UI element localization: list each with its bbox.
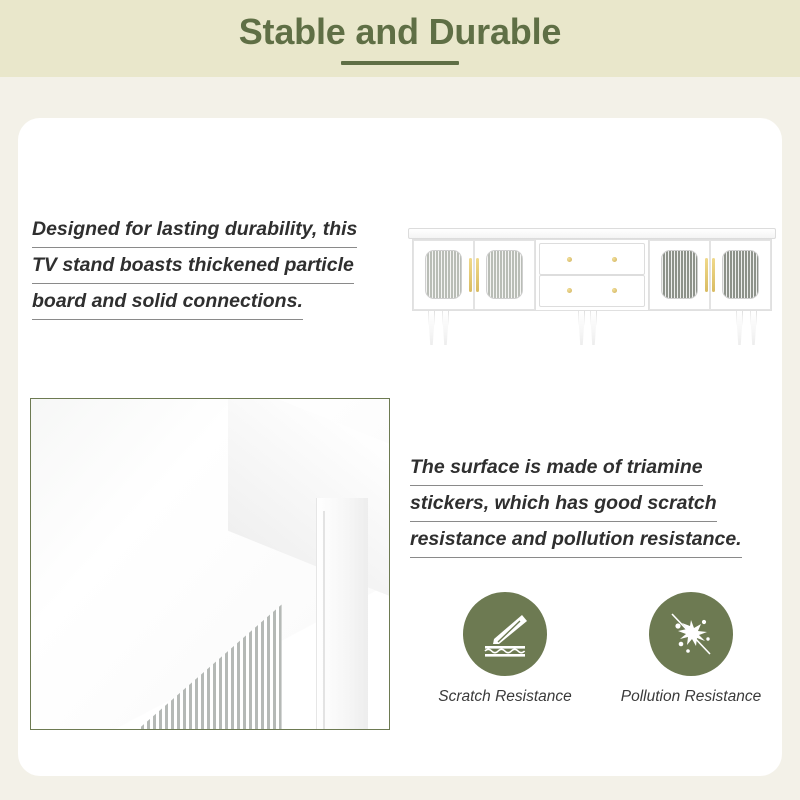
right-cabinet-bay <box>648 239 772 311</box>
tv-stand-illustration <box>406 228 778 353</box>
feature-badges: Scratch Resistance Pollution Resistance <box>412 592 784 706</box>
gold-knob <box>612 257 617 262</box>
durability-paragraph: Designed for lasting durability, this TV… <box>32 212 412 320</box>
closeup-photo-frame <box>30 398 390 730</box>
gold-bar-handle <box>705 258 708 292</box>
center-drawer-bay <box>536 239 648 311</box>
pollution-badge-circle <box>649 592 733 676</box>
paragraph-line: stickers, which has good scratch <box>410 486 717 522</box>
paragraph-line: The surface is made of triamine <box>410 450 703 486</box>
tapered-leg <box>428 311 435 345</box>
title-underline-rule <box>341 61 459 65</box>
fluted-glass-panel <box>425 250 463 299</box>
left-cabinet-bay <box>412 239 536 311</box>
fluted-glass-panel <box>661 250 699 299</box>
tapered-leg <box>750 311 757 345</box>
tapered-leg <box>442 311 449 345</box>
tv-stand-body <box>412 239 772 311</box>
paragraph-line: board and solid connections. <box>32 284 303 320</box>
cabinet-door <box>413 240 474 310</box>
ink-splat-icon <box>663 606 719 662</box>
drawer <box>539 275 645 307</box>
gold-knob <box>567 288 572 293</box>
feature-label: Scratch Resistance <box>438 688 572 706</box>
paragraph-line: resistance and pollution resistance. <box>410 522 742 558</box>
scratch-blade-icon <box>477 606 533 662</box>
page-title: Stable and Durable <box>239 12 561 52</box>
fluted-glass-panel <box>486 250 524 299</box>
gold-knob <box>567 257 572 262</box>
panel-seam <box>323 511 325 729</box>
gold-bar-handle <box>476 258 479 292</box>
paragraph-line: Designed for lasting durability, this <box>32 212 357 248</box>
header-band: Stable and Durable <box>0 0 800 77</box>
tapered-leg <box>736 311 743 345</box>
tapered-leg <box>578 311 585 345</box>
cabinet-door <box>474 240 535 310</box>
drawer <box>539 243 645 275</box>
paragraph-line: TV stand boasts thickened particle <box>32 248 354 284</box>
gold-knob <box>612 288 617 293</box>
scratch-badge-circle <box>463 592 547 676</box>
gold-bar-handle <box>712 258 715 292</box>
tapered-leg <box>590 311 597 345</box>
feature-pollution-resistance: Pollution Resistance <box>608 592 774 706</box>
tv-stand-top-panel <box>408 228 776 239</box>
cabinet-door <box>649 240 710 310</box>
tv-stand-legs <box>412 311 772 349</box>
feature-label: Pollution Resistance <box>621 688 761 706</box>
fluted-glass-panel <box>722 250 760 299</box>
gold-bar-handle <box>469 258 472 292</box>
feature-scratch-resistance: Scratch Resistance <box>422 592 588 706</box>
cabinet-door <box>710 240 771 310</box>
surface-paragraph: The surface is made of triamine stickers… <box>410 450 785 558</box>
